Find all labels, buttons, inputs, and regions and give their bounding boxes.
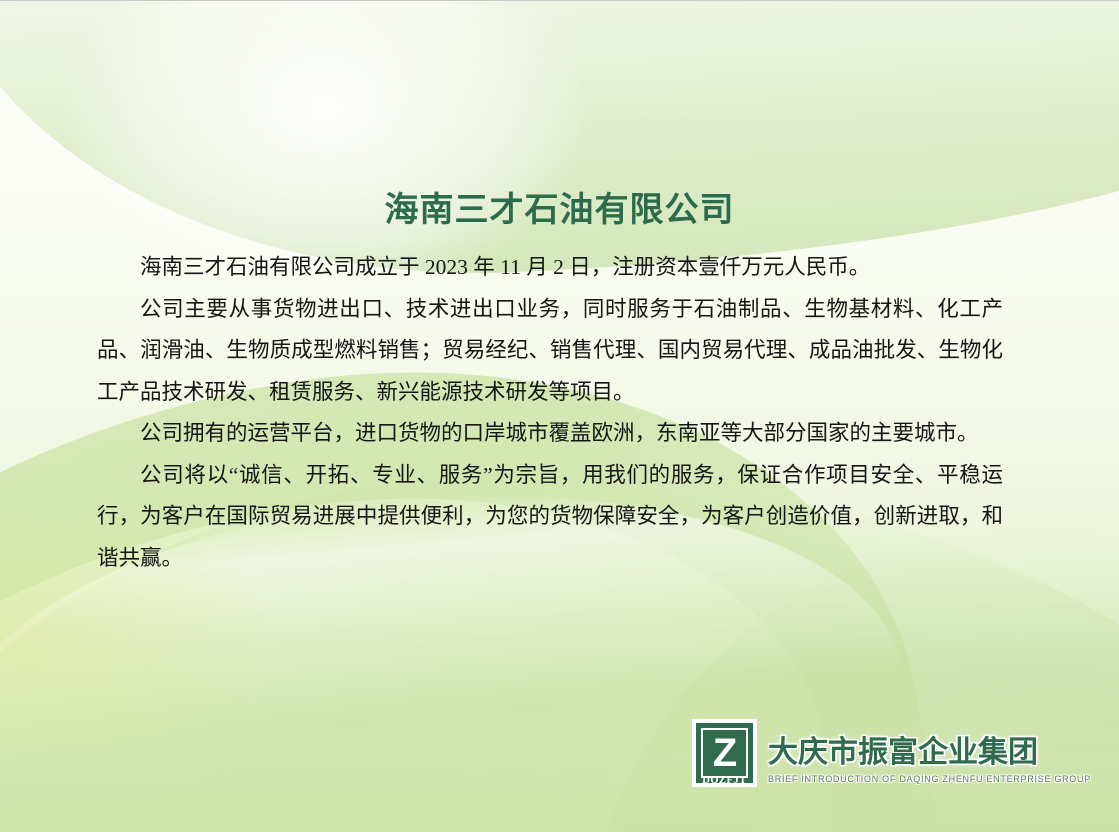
- company-logo: Z DQZFJT 大庆市振富企业集团 BRIEF INTRODUCTION OF…: [692, 719, 1091, 787]
- paragraph-operating-platform: 公司拥有的运营平台，进口货物的口岸城市覆盖欧洲，东南亚等大部分国家的主要城市。: [97, 413, 1003, 455]
- logo-abbreviation: DQZFJT: [702, 776, 746, 787]
- logo-letter-z: Z: [713, 733, 736, 773]
- paragraph-business-scope: 公司主要从事货物进出口、技术进出口业务，同时服务于石油制品、生物基材料、化工产品…: [97, 289, 1003, 414]
- page-title: 海南三才石油有限公司: [0, 182, 1119, 231]
- body-text-block: 海南三才石油有限公司成立于 2023 年 11 月 2 日，注册资本壹仟万元人民…: [97, 247, 1003, 579]
- slide-canvas: 海南三才石油有限公司 海南三才石油有限公司成立于 2023 年 11 月 2 日…: [0, 0, 1119, 832]
- logo-company-name-cn: 大庆市振富企业集团: [768, 738, 1091, 768]
- logo-company-name-en: BRIEF INTRODUCTION OF DAQING ZHENFU ENTE…: [768, 775, 1091, 784]
- paragraph-company-establishment: 海南三才石油有限公司成立于 2023 年 11 月 2 日，注册资本壹仟万元人民…: [97, 247, 1003, 289]
- logo-text-block: 大庆市振富企业集团 BRIEF INTRODUCTION OF DAQING Z…: [768, 719, 1091, 784]
- logo-mark-icon: Z DQZFJT: [692, 719, 757, 787]
- paragraph-company-philosophy: 公司将以“诚信、开拓、专业、服务”为宗旨，用我们的服务，保证合作项目安全、平稳运…: [97, 455, 1003, 580]
- logo-mark-frame: Z DQZFJT: [696, 723, 753, 783]
